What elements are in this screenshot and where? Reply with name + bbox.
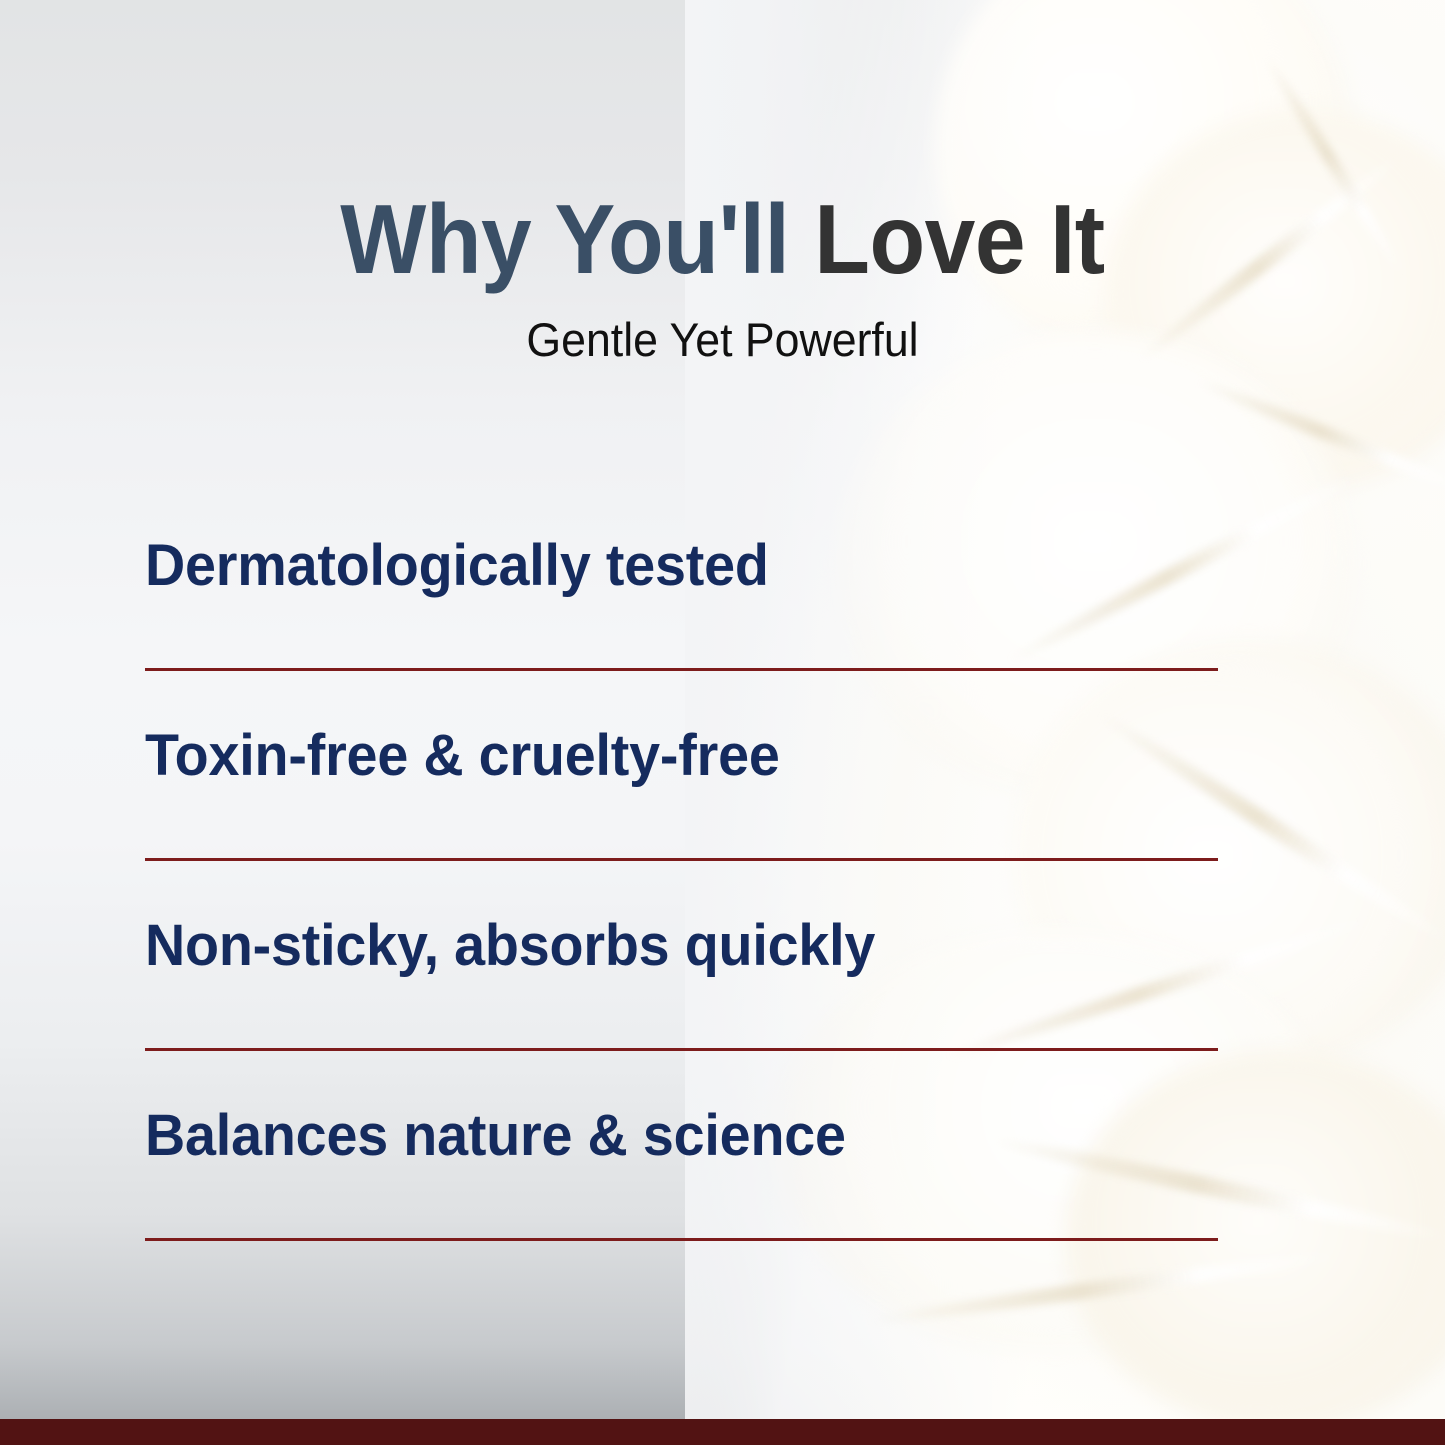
feature-label: Balances nature & science <box>145 1051 1177 1165</box>
cream-ridge <box>1193 374 1445 499</box>
list-item: Dermatologically tested <box>145 515 1220 671</box>
list-item: Non-sticky, absorbs quickly <box>145 861 1220 1051</box>
page-subtitle: Gentle Yet Powerful <box>36 292 1409 367</box>
promo-card: Why You'll Love It Gentle Yet Powerful D… <box>0 0 1445 1445</box>
page-title: Why You'll Love It <box>51 0 1395 292</box>
feature-list: Dermatologically tested Toxin-free & cru… <box>145 515 1220 1241</box>
list-item: Toxin-free & cruelty-free <box>145 671 1220 861</box>
feature-label: Dermatologically tested <box>145 515 1177 595</box>
feature-divider <box>145 1238 1218 1241</box>
cream-ridge <box>866 1247 1344 1330</box>
list-item: Balances nature & science <box>145 1051 1220 1241</box>
bottom-accent-bar <box>0 1419 1445 1445</box>
feature-label: Non-sticky, absorbs quickly <box>145 861 1177 975</box>
page-title-emphasis: Love It <box>814 184 1104 294</box>
header: Why You'll Love It Gentle Yet Powerful <box>0 0 1445 367</box>
feature-label: Toxin-free & cruelty-free <box>145 671 1177 785</box>
page-title-accent: Why You'll <box>340 184 814 294</box>
